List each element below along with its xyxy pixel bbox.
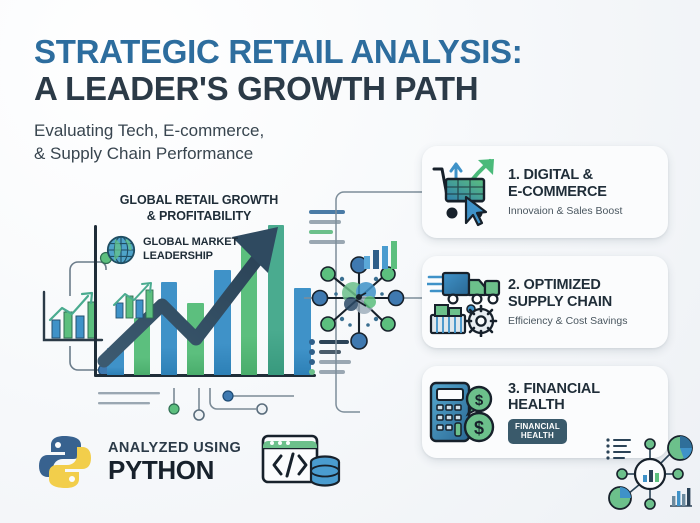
analyzed-using-label: ANALYZED USING: [108, 441, 241, 456]
card-digital-ecommerce[interactable]: 1. DIGITAL & E-COMMERCE Innovaion & Sale…: [422, 146, 668, 238]
card-title: 2. OPTIMIZED SUPPLY CHAIN: [508, 277, 660, 311]
card-text-block: 1. DIGITAL & E-COMMERCE Innovaion & Sale…: [508, 167, 668, 217]
bottom-connector-deco: [96, 380, 321, 422]
chart-bar: [161, 282, 178, 375]
chart-bar: [107, 348, 124, 375]
status-badge: FINANCIAL HEALTH: [508, 419, 567, 443]
chart-panel: GLOBAL RETAIL GROWTH & PROFITABILITY: [78, 193, 318, 393]
card-title-line2: HEALTH: [508, 397, 660, 414]
svg-text:$: $: [474, 418, 484, 438]
python-text-block: ANALYZED USING PYTHON: [108, 441, 241, 484]
card-title-line1: 3. FINANCIAL: [508, 381, 660, 398]
card-text-block: 2. OPTIMIZED SUPPLY CHAIN Efficiency & C…: [508, 277, 668, 327]
python-label: PYTHON: [108, 457, 241, 483]
calculator-dollar-icon: $ $: [422, 377, 508, 447]
footer-block: ANALYZED USING PYTHON: [36, 432, 341, 492]
mini-bar-chart-icon: [362, 240, 402, 270]
chart-y-axis: [94, 225, 97, 377]
infographic-canvas: STRATEGIC RETAIL ANALYSIS: A LEADER'S GR…: [0, 0, 700, 523]
global-market-badge: GLOBAL MARKET LEADERSHIP: [106, 235, 238, 265]
python-logo-icon: [36, 433, 94, 491]
chart-title: GLOBAL RETAIL GROWTH & PROFITABILITY: [84, 193, 314, 224]
card-title-line1: 1. DIGITAL &: [508, 167, 660, 184]
global-market-label: GLOBAL MARKET LEADERSHIP: [143, 236, 238, 264]
card-subtitle: Innovaion & Sales Boost: [508, 205, 660, 217]
analytics-network-icon: [604, 430, 696, 518]
svg-text:$: $: [475, 392, 484, 409]
code-window-database-icon: [261, 432, 341, 492]
shopping-cart-growth-icon: [422, 157, 508, 227]
card-title-line1: 2. OPTIMIZED: [508, 277, 660, 294]
trend-up-bar-icon: [108, 281, 158, 323]
card-subtitle: Efficiency & Cost Savings: [508, 315, 660, 327]
delivery-truck-gear-icon: [422, 267, 508, 337]
page-title-line2: A LEADER'S GROWTH PATH: [34, 71, 634, 108]
status-badge-line2: HEALTH: [515, 431, 560, 440]
global-market-label-line1: GLOBAL MARKET: [143, 236, 238, 250]
status-badge-line1: FINANCIAL: [515, 422, 560, 431]
page-title-line1: STRATEGIC RETAIL ANALYSIS:: [34, 34, 634, 71]
card-title-line2: E-COMMERCE: [508, 184, 660, 201]
card-title: 1. DIGITAL & E-COMMERCE: [508, 167, 660, 201]
globe-icon: [106, 235, 136, 265]
card-title: 3. FINANCIAL HEALTH: [508, 381, 660, 415]
global-market-label-line2: LEADERSHIP: [143, 250, 238, 264]
subtitle-line1: Evaluating Tech, E-commerce,: [34, 120, 634, 143]
chart-bar: [214, 270, 231, 375]
chart-title-line1: GLOBAL RETAIL GROWTH: [84, 193, 314, 209]
card-title-line2: SUPPLY CHAIN: [508, 294, 660, 311]
card-optimized-supply-chain[interactable]: 2. OPTIMIZED SUPPLY CHAIN Efficiency & C…: [422, 256, 668, 348]
chart-bar: [134, 318, 151, 375]
chart-bar: [241, 246, 258, 375]
chart-bar: [187, 303, 204, 375]
chart-title-line2: & PROFITABILITY: [84, 209, 314, 225]
chart-bar: [268, 225, 285, 375]
